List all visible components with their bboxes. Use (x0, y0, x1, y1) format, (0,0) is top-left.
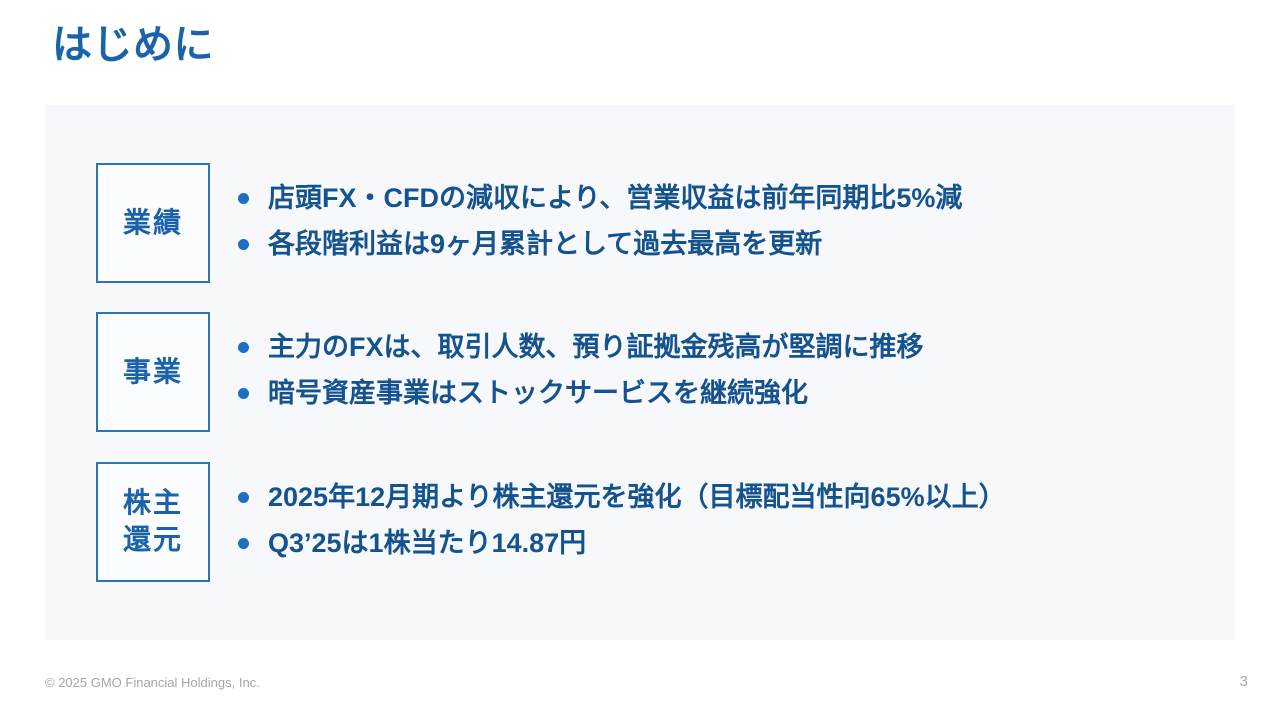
category-label: 業績 (123, 205, 183, 242)
bullet-dot-icon (238, 193, 249, 204)
bullet-text: 店頭FX・CFDの減収により、営業収益は前年同期比5%減 (268, 180, 962, 217)
slide-root: はじめに 業績 店頭FX・CFDの減収により、営業収益は前年同期比5%減 各段階… (0, 0, 1280, 720)
list-item: 2025年12月期より株主還元を強化（目標配当性向65%以上） (238, 479, 1006, 516)
list-item: 主力のFXは、取引人数、預り証拠金残高が堅調に推移 (238, 329, 924, 366)
footer-copyright: © 2025 GMO Financial Holdings, Inc. (45, 675, 260, 690)
category-label: 株主 還元 (123, 485, 183, 559)
bullet-text: Q3’25は1株当たり14.87円 (268, 525, 586, 562)
bullet-dot-icon (238, 538, 249, 549)
list-item: 暗号資産事業はストックサービスを継続強化 (238, 375, 924, 412)
bullet-text: 主力のFXは、取引人数、預り証拠金残高が堅調に推移 (268, 329, 924, 366)
page-number: 3 (1240, 673, 1248, 690)
bullet-dot-icon (238, 492, 249, 503)
content-panel: 業績 店頭FX・CFDの減収により、営業収益は前年同期比5%減 各段階利益は9ヶ… (45, 105, 1235, 640)
bullet-text: 暗号資産事業はストックサービスを継続強化 (268, 375, 808, 412)
list-item: 各段階利益は9ヶ月累計として過去最高を更新 (238, 226, 962, 263)
section-row: 株主 還元 2025年12月期より株主還元を強化（目標配当性向65%以上） Q3… (96, 462, 1006, 582)
section-row: 事業 主力のFXは、取引人数、預り証拠金残高が堅調に推移 暗号資産事業はストック… (96, 312, 924, 432)
section-row: 業績 店頭FX・CFDの減収により、営業収益は前年同期比5%減 各段階利益は9ヶ… (96, 163, 962, 283)
list-item: 店頭FX・CFDの減収により、営業収益は前年同期比5%減 (238, 180, 962, 217)
bullet-list: 2025年12月期より株主還元を強化（目標配当性向65%以上） Q3’25は1株… (238, 462, 1006, 563)
category-box-business: 事業 (96, 312, 210, 432)
category-label: 事業 (123, 354, 183, 391)
list-item: Q3’25は1株当たり14.87円 (238, 525, 1006, 562)
bullet-text: 2025年12月期より株主還元を強化（目標配当性向65%以上） (268, 479, 1006, 516)
bullet-dot-icon (238, 388, 249, 399)
bullet-dot-icon (238, 239, 249, 250)
bullet-list: 店頭FX・CFDの減収により、営業収益は前年同期比5%減 各段階利益は9ヶ月累計… (238, 163, 962, 264)
page-title: はじめに (52, 21, 214, 69)
bullet-list: 主力のFXは、取引人数、預り証拠金残高が堅調に推移 暗号資産事業はストックサービ… (238, 312, 924, 413)
bullet-dot-icon (238, 342, 249, 353)
category-box-performance: 業績 (96, 163, 210, 283)
category-box-shareholder-returns: 株主 還元 (96, 462, 210, 582)
bullet-text: 各段階利益は9ヶ月累計として過去最高を更新 (268, 226, 822, 263)
